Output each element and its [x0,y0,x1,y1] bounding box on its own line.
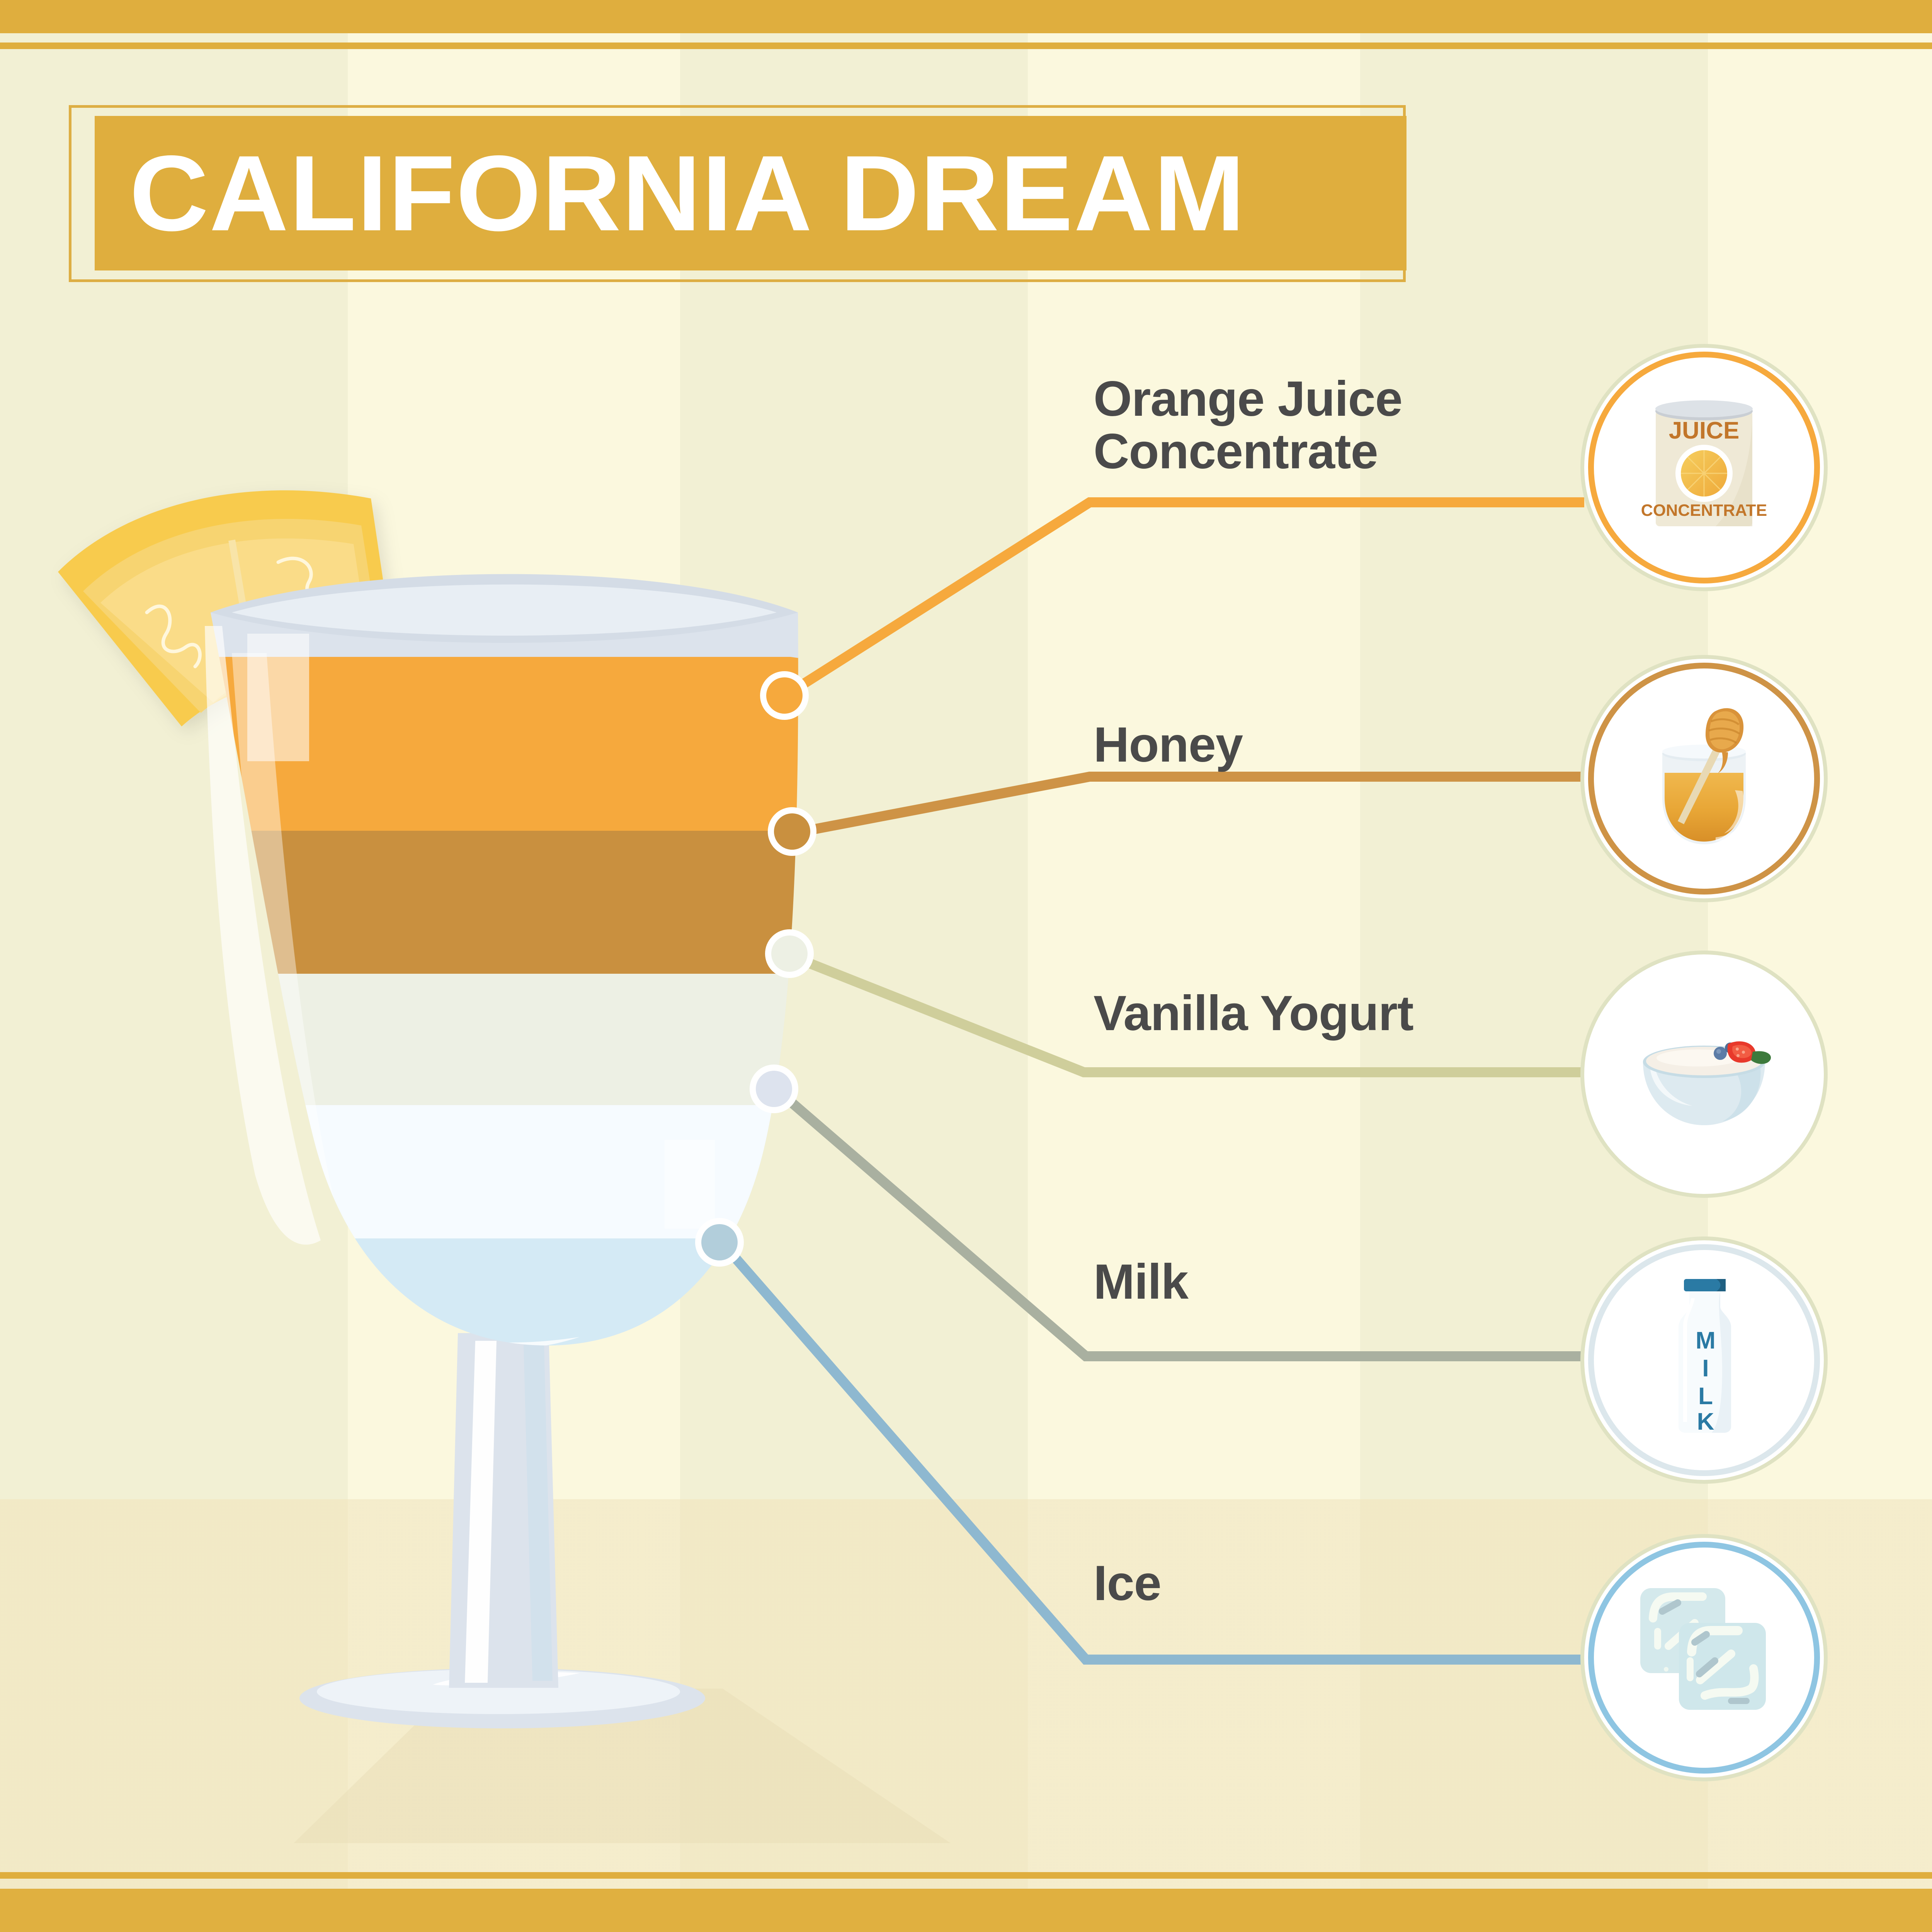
icon-inner-ring-honey [1588,663,1820,895]
connector-orange-juice [788,502,1584,694]
label-ice: Ice [1094,1557,1161,1610]
label-honey: Honey [1094,719,1243,771]
icon-inner-ring-ice [1588,1542,1820,1774]
label-vanilla-yogurt: Vanilla Yogurt [1094,987,1413,1040]
dot-ice [698,1221,741,1264]
drink-glass [201,574,819,1728]
connector-honey [796,777,1584,833]
label-orange-juice-concentrate: Orange Juice Concentrate [1094,373,1402,478]
dot-vanilla-yogurt [768,932,811,975]
dot-milk [753,1068,795,1110]
connector-milk [777,1090,1584,1356]
icon-inner-ring-orange-juice [1588,352,1820,583]
infographic-canvas: CALIFORNIA DREAM [0,0,1932,1932]
dot-honey [771,810,813,853]
label-milk: Milk [1094,1256,1188,1308]
icon-inner-ring-vanilla-yogurt [1588,958,1820,1190]
icon-inner-ring-milk [1588,1244,1820,1476]
dot-orange-juice [763,674,806,717]
